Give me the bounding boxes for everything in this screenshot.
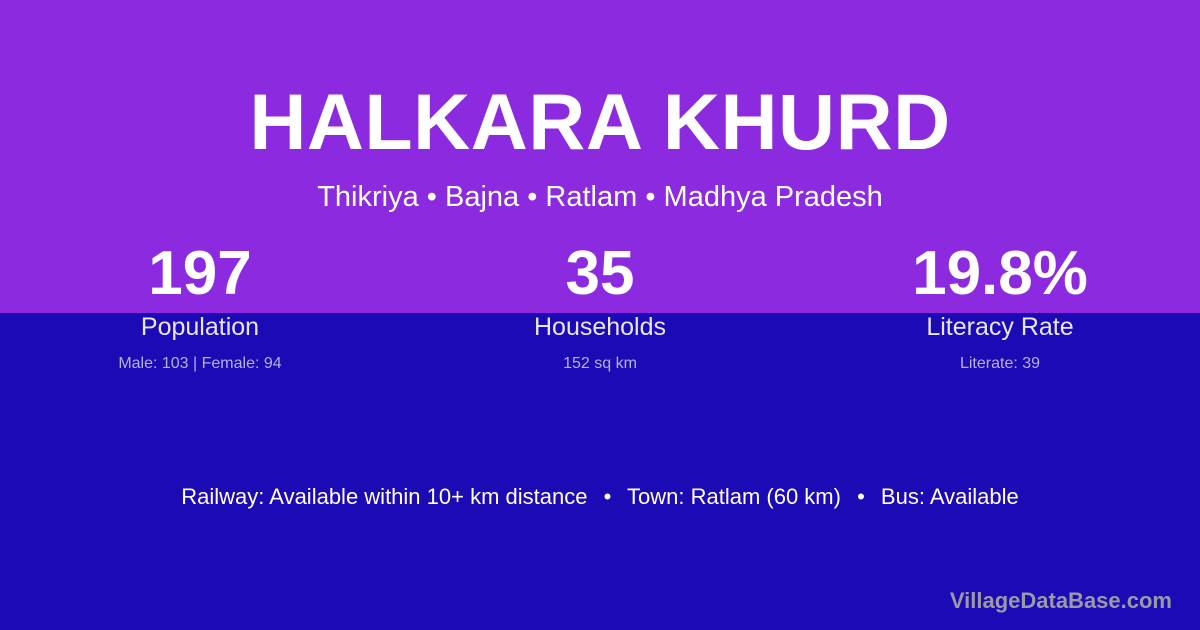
bullet-separator-icon: •: [594, 486, 622, 508]
stat-value: 35: [400, 243, 800, 309]
page-title: HALKARA KHURD: [0, 0, 1200, 161]
stat-households: 35 Households 152 sq km: [400, 243, 800, 372]
breadcrumb: Thikriya • Bajna • Ratlam • Madhya Prade…: [0, 161, 1200, 212]
site-brand-watermark: VillageDataBase.com: [950, 590, 1172, 612]
amenity-town: Town: Ratlam (60 km): [627, 484, 841, 509]
stat-subtext: Literate: 39: [800, 356, 1200, 372]
amenities-line: Railway: Available within 10+ km distanc…: [0, 486, 1200, 508]
bullet-separator-icon: •: [847, 486, 875, 508]
stat-population: 197 Population Male: 103 | Female: 94: [0, 243, 400, 372]
amenity-railway: Railway: Available within 10+ km distanc…: [181, 484, 587, 509]
village-info-card: HALKARA KHURD Thikriya • Bajna • Ratlam …: [0, 0, 1200, 630]
stat-subtext: 152 sq km: [400, 356, 800, 372]
stat-label: Households: [400, 315, 800, 340]
stat-value: 197: [0, 243, 400, 309]
stat-label: Population: [0, 315, 400, 340]
statistics-row: 197 Population Male: 103 | Female: 94 35…: [0, 243, 1200, 372]
card-header: HALKARA KHURD Thikriya • Bajna • Ratlam …: [0, 0, 1200, 212]
stat-literacy-rate: 19.8% Literacy Rate Literate: 39: [800, 243, 1200, 372]
stat-value: 19.8%: [800, 243, 1200, 309]
stat-subtext: Male: 103 | Female: 94: [0, 356, 400, 372]
stat-label: Literacy Rate: [800, 315, 1200, 340]
amenity-bus: Bus: Available: [881, 484, 1019, 509]
